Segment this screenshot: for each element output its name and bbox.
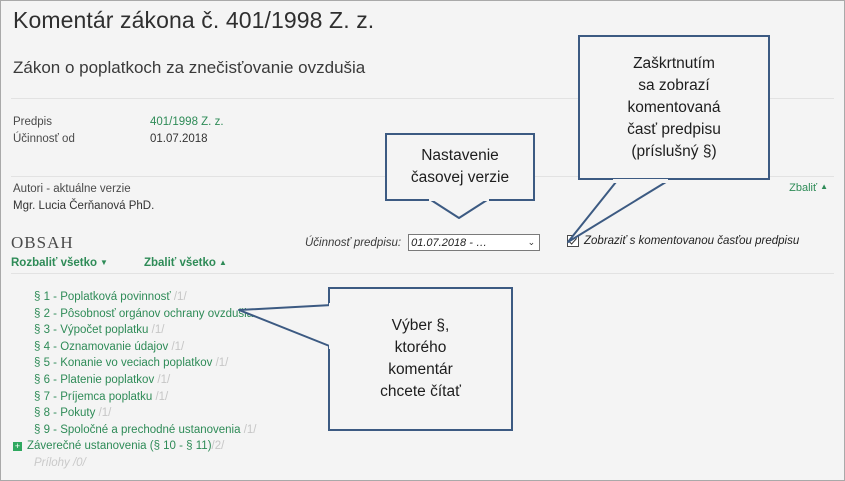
chevron-down-icon: ⌄ — [528, 237, 538, 248]
toc-item-count: /1/ — [212, 357, 228, 369]
obsah-tools: Rozbaliť všetko▼Zbaliť všetko▲ — [11, 257, 263, 269]
toc-item-count: /1/ — [171, 291, 187, 303]
authors-label: Autori - aktuálne verzie — [13, 181, 154, 198]
caret-up-icon: ▲ — [820, 182, 828, 191]
toc-item-count: /1/ — [154, 374, 170, 386]
callout-version-note: Nastaveniečasovej verzie — [385, 133, 535, 201]
version-label: Účinnosť predpisu: — [305, 237, 401, 249]
plus-icon[interactable]: + — [13, 442, 22, 451]
toc-item[interactable]: § 9 - Spoločné a prechodné ustanovenia /… — [13, 422, 269, 439]
toc-item-label: § 4 - Oznamovanie údajov — [34, 341, 168, 353]
page-title: Komentár zákona č. 401/1998 Z. z. — [13, 7, 374, 34]
callout-section-tail — [237, 301, 337, 361]
page-subtitle: Zákon o poplatkoch za znečisťovanie ovzd… — [13, 58, 365, 78]
toc-item[interactable]: § 3 - Výpočet poplatku /1/ — [13, 322, 269, 339]
version-select-value: 01.07.2018 - … — [411, 237, 487, 249]
toc-item-count: /0/ — [70, 457, 86, 469]
toc-item-label: Záverečné ustanovenia (§ 10 - § 11) — [27, 438, 212, 455]
chevron-down-icon: ▼ — [100, 258, 108, 267]
toc-item-label: § 6 - Platenie poplatkov — [34, 374, 154, 386]
version-select[interactable]: 01.07.2018 - … ⌄ — [408, 234, 540, 251]
comment-viewer-window: Komentár zákona č. 401/1998 Z. z. Zákon … — [0, 0, 845, 481]
toc-item-label: § 2 - Pôsobnosť orgánov ochrany ovzdušia — [34, 308, 253, 320]
authors-block: Autori - aktuálne verzie Mgr. Lucia Čerň… — [13, 181, 154, 215]
divider-obsah — [11, 273, 834, 274]
toc-item-label: Prílohy — [34, 457, 70, 469]
toc-item-count: /1/ — [148, 324, 164, 336]
toc-item-count: /1/ — [95, 407, 111, 419]
toc-item-label: § 3 - Výpočet poplatku — [34, 324, 148, 336]
toc-item[interactable]: § 1 - Poplatková povinnosť /1/ — [13, 289, 269, 306]
callout-version-text: Nastaveniečasovej verzie — [411, 145, 509, 189]
toc-item-count: /1/ — [241, 424, 257, 436]
callout-checkbox-tail — [556, 176, 716, 246]
toc-item[interactable]: § 4 - Oznamovanie údajov /1/ — [13, 339, 269, 356]
toc-item[interactable]: § 8 - Pokuty /1/ — [13, 405, 269, 422]
toc-item: Prílohy /0/ — [13, 455, 269, 472]
toc-item-count: /1/ — [152, 391, 168, 403]
toc-item-label: § 5 - Konanie vo veciach poplatkov — [34, 357, 212, 369]
toc-item[interactable]: § 6 - Platenie poplatkov /1/ — [13, 372, 269, 389]
callout-checkbox-note: Zaškrtnutímsa zobrazíkomentovanáčasť pre… — [578, 35, 770, 180]
expand-all-label: Rozbaliť všetko — [11, 257, 97, 269]
toc-item[interactable]: +Záverečné ustanovenia (§ 10 - § 11) /2/ — [13, 438, 269, 455]
metadata-row-predpis: Predpis 401/1998 Z. z. — [13, 114, 224, 131]
toc-item[interactable]: § 2 - Pôsobnosť orgánov ochrany ovzdušia… — [13, 306, 269, 323]
toc-list: § 1 - Poplatková povinnosť /1/§ 2 - Pôso… — [13, 289, 269, 472]
toc-item-label: § 8 - Pokuty — [34, 407, 95, 419]
metadata-label-predpis: Predpis — [13, 114, 150, 131]
callout-section-text: Výber §,ktoréhokomentárchcete čítať — [380, 315, 461, 403]
toc-item-count: /2/ — [212, 438, 225, 455]
metadata-label-ucinnost: Účinnosť od — [13, 131, 150, 148]
collapse-authors-label: Zbaliť — [789, 182, 817, 194]
callout-section-note: Výber §,ktoréhokomentárchcete čítať — [328, 287, 513, 431]
version-control-row: Účinnosť predpisu: 01.07.2018 - … ⌄ — [305, 234, 540, 251]
metadata-table: Predpis 401/1998 Z. z. Účinnosť od 01.07… — [13, 114, 224, 148]
toc-item-label: § 7 - Príjemca poplatku — [34, 391, 152, 403]
collapse-all-button[interactable]: Zbaliť všetko▲ — [144, 257, 227, 269]
metadata-value-ucinnost: 01.07.2018 — [150, 131, 208, 148]
toc-item[interactable]: § 7 - Príjemca poplatku /1/ — [13, 389, 269, 406]
toc-item-label: § 9 - Spoločné a prechodné ustanovenia — [34, 424, 241, 436]
toc-item[interactable]: § 5 - Konanie vo veciach poplatkov /1/ — [13, 355, 269, 372]
collapse-authors-link[interactable]: Zbaliť▲ — [789, 182, 828, 194]
toc-item-label: § 1 - Poplatková povinnosť — [34, 291, 171, 303]
metadata-value-predpis-link[interactable]: 401/1998 Z. z. — [150, 114, 224, 131]
collapse-all-label: Zbaliť všetko — [144, 257, 216, 269]
toc-item-count: /1/ — [168, 341, 184, 353]
callout-checkbox-text: Zaškrtnutímsa zobrazíkomentovanáčasť pre… — [627, 53, 721, 163]
callout-version-tail — [411, 197, 511, 223]
author-name: Mgr. Lucia Čerňanová PhD. — [13, 198, 154, 215]
metadata-row-ucinnost: Účinnosť od 01.07.2018 — [13, 131, 224, 148]
obsah-heading: OBSAH — [11, 233, 74, 253]
chevron-up-icon: ▲ — [219, 258, 227, 267]
expand-all-button[interactable]: Rozbaliť všetko▼ — [11, 257, 108, 269]
